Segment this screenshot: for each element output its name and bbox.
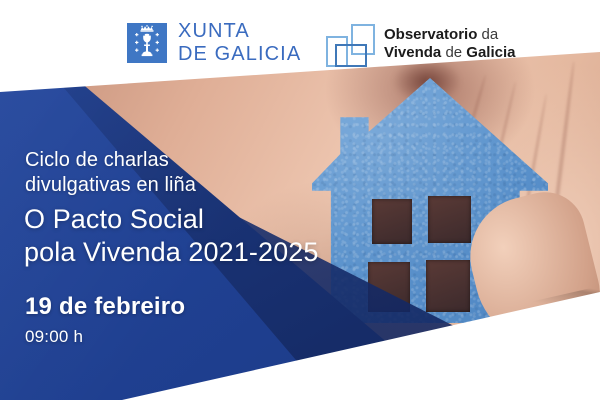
bar-center [335, 44, 367, 67]
observatorio-wordmark: Observatorio da Vivenda de Galicia [384, 26, 516, 62]
de-word: de [445, 44, 462, 61]
xunta-logo-wordmark: XUNTA DE GALICIA [178, 21, 301, 64]
observatorio-word: Observatorio [384, 26, 477, 43]
house-window [428, 196, 471, 243]
vivenda-word: Vivenda [384, 44, 441, 61]
da-word: da [482, 26, 499, 43]
event-time: 09:00 h [25, 326, 83, 347]
observatorio-wordmark-line1: Observatorio da [384, 26, 516, 44]
logo-row: XUNTA DE GALICIA Observatorio da Vivenda… [0, 0, 600, 92]
observatorio-da-vivenda-logo: Observatorio da Vivenda de Galicia [325, 24, 516, 64]
kicker-line2: divulgativas en liña [25, 173, 196, 198]
event-banner: XUNTA DE GALICIA Observatorio da Vivenda… [0, 0, 600, 400]
xunta-wordmark-line2: DE GALICIA [178, 44, 301, 64]
galicia-word: Galicia [466, 44, 515, 61]
title-line1: O Pacto Social [24, 203, 318, 236]
house-window [426, 260, 470, 312]
xunta-wordmark-line1: XUNTA [178, 21, 301, 41]
observatorio-wordmark-line2: Vivenda de Galicia [384, 44, 516, 62]
xunta-coat-of-arms-icon [127, 23, 167, 63]
title-line2: pola Vivenda 2021-2025 [24, 236, 318, 269]
bar-chart-buildings-icon [325, 24, 373, 64]
event-title: O Pacto Social pola Vivenda 2021-2025 [24, 203, 318, 269]
event-kicker: Ciclo de charlas divulgativas en liña [25, 148, 196, 198]
house-window [372, 199, 412, 244]
event-date: 19 de febreiro [25, 293, 185, 321]
xunta-de-galicia-logo: XUNTA DE GALICIA [127, 21, 301, 64]
kicker-line1: Ciclo de charlas [25, 148, 196, 173]
